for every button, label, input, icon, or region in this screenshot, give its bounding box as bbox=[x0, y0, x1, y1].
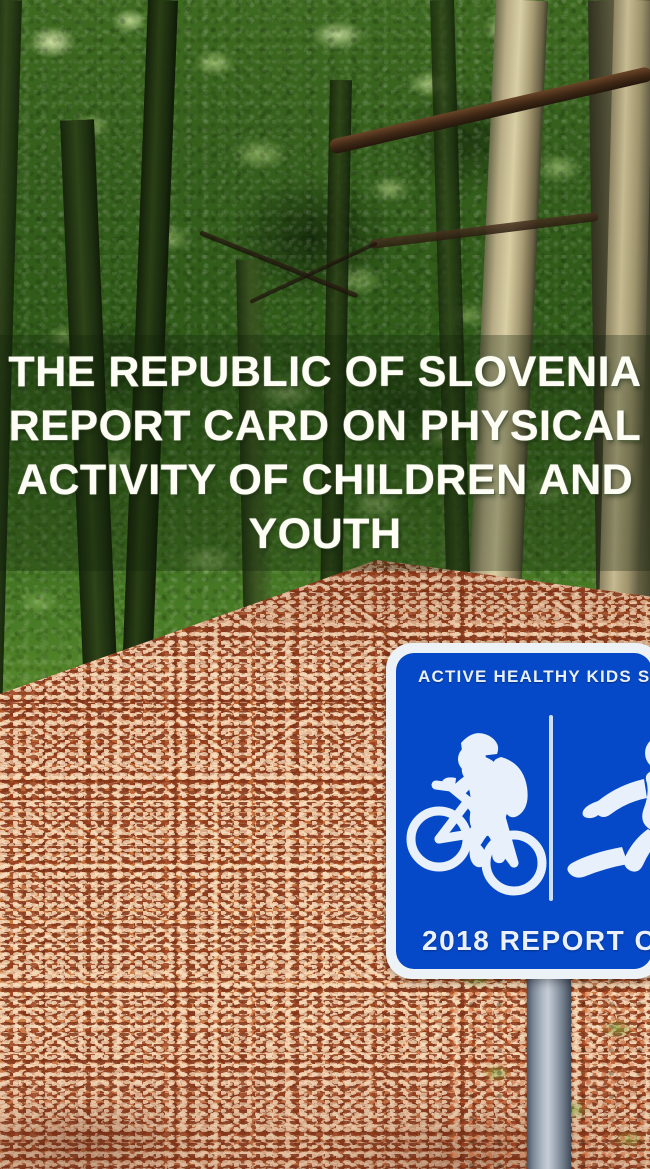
title-line-4: YOUTH bbox=[6, 507, 644, 561]
cyclist-icon bbox=[406, 721, 556, 901]
title-line-1: THE REPUBLIC OF SLOVENIA bbox=[6, 345, 644, 399]
sign-face: ACTIVE HEALTHY KIDS SLOVE bbox=[396, 653, 650, 969]
runner-icon bbox=[564, 721, 650, 901]
title-line-2: REPORT CARD ON PHYSICAL bbox=[6, 399, 644, 453]
sign-footer-text: 2018 REPORT CAR bbox=[396, 925, 650, 957]
report-card-sign: ACTIVE HEALTHY KIDS SLOVE bbox=[386, 643, 650, 979]
sign-header-text: ACTIVE HEALTHY KIDS SLOVE bbox=[396, 667, 650, 687]
infographic-canvas: THE REPUBLIC OF SLOVENIA REPORT CARD ON … bbox=[0, 0, 650, 1169]
page-title: THE REPUBLIC OF SLOVENIA REPORT CARD ON … bbox=[0, 335, 650, 571]
title-line-3: ACTIVITY OF CHILDREN AND bbox=[6, 453, 644, 507]
sign-post bbox=[527, 960, 571, 1169]
